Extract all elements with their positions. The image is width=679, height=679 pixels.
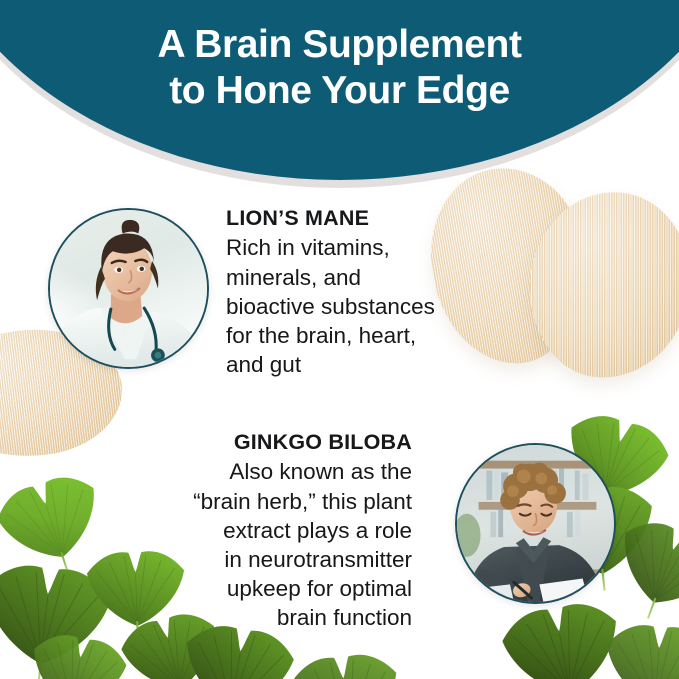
lions-mane-body-line-1: Rich in vitamins, [226, 233, 526, 262]
lions-mane-body-line-3: bioactive substances [226, 292, 526, 321]
lions-mane-body-line-5: and gut [226, 350, 526, 379]
section-lions-mane-text: LION’S MANE Rich in vitamins, minerals, … [226, 204, 526, 379]
page-title-line-2: to Hone Your Edge [0, 68, 679, 114]
ginkgo-biloba-body: Also known as the “brain herb,” this pla… [112, 457, 412, 632]
lions-mane-body-line-2: minerals, and [226, 263, 526, 292]
student-photo-graphic [457, 445, 614, 602]
section-ginkgo-biloba-text: GINKGO BILOBA Also known as the “brain h… [112, 428, 412, 632]
page-title-line-1: A Brain Supplement [0, 22, 679, 68]
young-man-studying-photo [455, 443, 616, 604]
product-infographic: A Brain Supplement to Hone Your Edge [0, 0, 679, 679]
ginkgo-biloba-body-line-4: in neurotransmitter [112, 545, 412, 574]
ginkgo-biloba-body-line-2: “brain herb,” this plant [112, 487, 412, 516]
lions-mane-body: Rich in vitamins, minerals, and bioactiv… [226, 233, 526, 379]
ginkgo-biloba-body-line-6: brain function [112, 603, 412, 632]
doctor-photo-graphic [50, 210, 207, 367]
ginkgo-biloba-body-line-3: extract plays a role [112, 516, 412, 545]
header-band: A Brain Supplement to Hone Your Edge [0, 0, 679, 200]
ginkgo-leaf-icon [597, 616, 679, 679]
ginkgo-biloba-body-line-1: Also known as the [112, 457, 412, 486]
lions-mane-body-line-4: for the brain, heart, [226, 321, 526, 350]
ginkgo-biloba-body-line-5: upkeep for optimal [112, 574, 412, 603]
lions-mane-heading: LION’S MANE [226, 204, 526, 232]
ginkgo-biloba-heading: GINKGO BILOBA [112, 428, 412, 456]
page-title: A Brain Supplement to Hone Your Edge [0, 22, 679, 113]
smiling-female-doctor-photo [48, 208, 209, 369]
